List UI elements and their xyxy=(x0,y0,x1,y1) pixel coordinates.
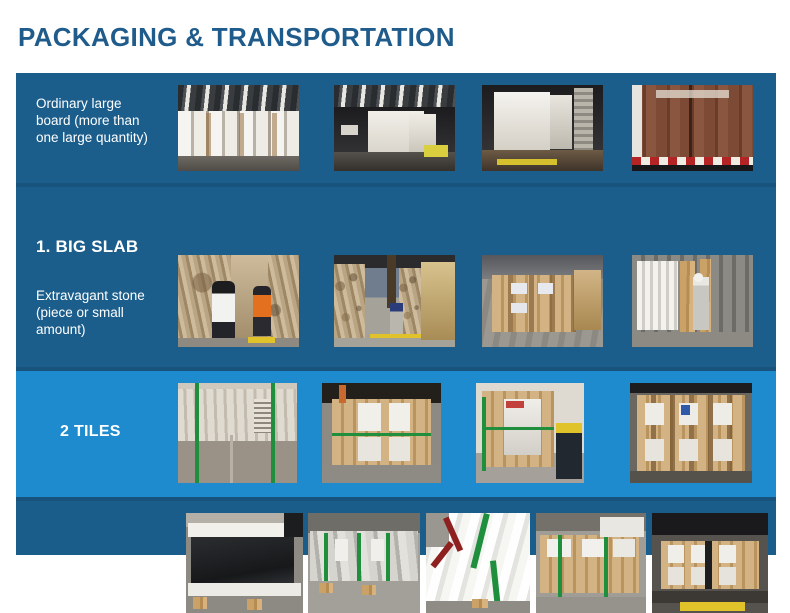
photo-slabs-loading-truck xyxy=(334,85,455,171)
row-big-slab-ordinary: Ordinary large board (more than one larg… xyxy=(16,73,776,183)
photo-tiles-inside-container xyxy=(630,383,752,483)
photo-tile-crate-loading xyxy=(476,383,584,483)
photo-tile-crates-pallets xyxy=(322,383,441,483)
photo-tile-pallet-strapped xyxy=(178,383,297,483)
photo-workers-granite-slab xyxy=(178,255,299,347)
photo-white-slabs-warehouse xyxy=(178,85,299,171)
row-big-slab-extravagant: 1. BIG SLAB Extravagant stone (piece or … xyxy=(16,187,776,367)
row-countertops: 3 COUNTERTOPS xyxy=(16,501,776,555)
photo-worker-loading-container xyxy=(632,255,753,347)
heading-tiles: 2 TILES xyxy=(60,423,121,441)
heading-countertops: 3 COUNTERTOPS xyxy=(34,553,174,571)
heading-big-slab: 1. BIG SLAB xyxy=(36,237,138,257)
label-extravagant-stone: Extravagant stone (piece or small amount… xyxy=(36,287,186,338)
row-tiles: 2 TILES xyxy=(16,371,776,497)
photo-worker-slab-aisle xyxy=(334,255,455,347)
packaging-panel: Ordinary large board (more than one larg… xyxy=(16,73,776,555)
label-ordinary-large-board: Ordinary large board (more than one larg… xyxy=(36,95,176,146)
photo-slabs-inside-container xyxy=(482,85,603,171)
photo-wooden-a-frame-crates xyxy=(482,255,603,347)
slide-root: PACKAGING & TRANSPORTATION Ordinary larg… xyxy=(0,0,790,584)
photo-container-truck-exterior xyxy=(632,85,753,171)
page-title: PACKAGING & TRANSPORTATION xyxy=(18,22,455,53)
